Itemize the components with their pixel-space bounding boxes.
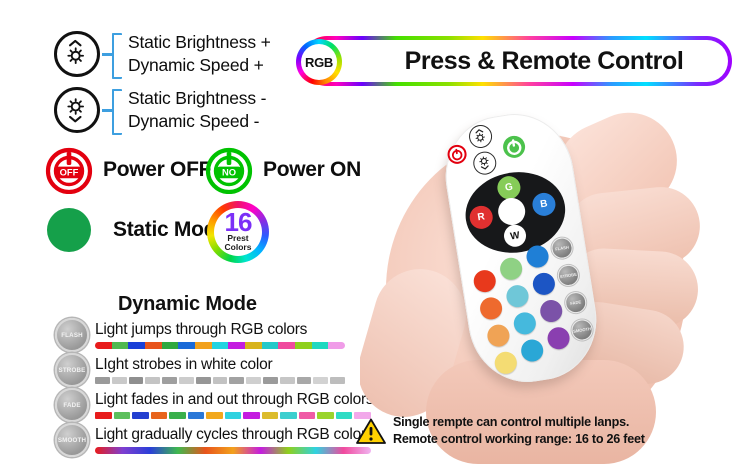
hand-holding-remote-photo: G R B W FLASH STROBE: [360, 92, 750, 464]
color-bar-segment: [162, 377, 177, 384]
power-on-glyph-text: NO: [222, 167, 236, 178]
brightness-down-line2: Dynamic Speed -: [128, 110, 266, 133]
power-on-label: Power ON: [263, 158, 361, 182]
smooth-desc-block: Light gradually cycles through RGB color…: [95, 426, 371, 454]
color-bar-segment: [196, 377, 211, 384]
dialpad-red-button[interactable]: R: [468, 204, 494, 230]
static-mode-row: Static Mode: [47, 208, 228, 252]
color-bar-segment: [336, 412, 353, 419]
color-button-red[interactable]: [472, 268, 497, 293]
power-off-glyph-text: OFF: [60, 167, 79, 178]
remote-strobe-button[interactable]: STROBE: [556, 263, 580, 287]
power-on-icon[interactable]: NO: [205, 146, 253, 194]
warning-text-block: Single rempte can control multiple lanps…: [393, 414, 645, 448]
dynamic-row-strobe: STROBE LIght strobes in white color: [55, 353, 345, 387]
remote-power-on-glyph: [502, 134, 527, 159]
preset-colors-line2: Colors: [225, 243, 252, 253]
color-button-violet[interactable]: [539, 298, 564, 323]
dynamic-row-fade: FADE Light fades in and out through RGB …: [55, 388, 371, 422]
color-bar-segment: [328, 342, 345, 349]
strobe-mode-button[interactable]: STROBE: [55, 353, 89, 387]
static-mode-swatch[interactable]: [47, 208, 91, 252]
brightness-down-line1: Static Brightness -: [128, 87, 266, 110]
dialpad-green-button[interactable]: G: [496, 174, 522, 200]
dialpad-center-button[interactable]: [496, 196, 527, 227]
flash-color-bar: [95, 342, 345, 349]
bracket-connector-up: [102, 32, 128, 76]
color-bar-segment: [317, 412, 334, 419]
rgb-color-wheel-icon: RGB: [296, 39, 342, 85]
color-bar-segment: [95, 342, 112, 349]
color-bar-segment: [129, 377, 144, 384]
color-bar-segment: [151, 412, 168, 419]
color-bar-segment: [162, 342, 179, 349]
page-title: Press & Remote Control: [370, 36, 718, 86]
fade-mode-button-label: FADE: [63, 402, 80, 409]
dynamic-row-smooth: SMOOTH Light gradually cycles through RG…: [55, 423, 371, 457]
dialpad-blue-button[interactable]: B: [531, 191, 557, 217]
smooth-mode-button[interactable]: SMOOTH: [55, 423, 89, 457]
color-bar-segment: [212, 342, 229, 349]
color-bar-segment: [128, 342, 145, 349]
color-bar-segment: [262, 412, 279, 419]
header-banner: Press & Remote Control RGB: [302, 36, 732, 86]
color-bar-segment: [243, 412, 260, 419]
color-bar-segment: [263, 377, 278, 384]
strobe-color-bar: [95, 377, 345, 384]
flash-description: Light jumps through RGB colors: [95, 321, 345, 339]
color-bar-segment: [299, 412, 316, 419]
remote-smooth-button[interactable]: SMOOTH: [570, 318, 594, 342]
color-button-green[interactable]: [499, 256, 524, 281]
color-bar-segment: [297, 377, 312, 384]
brightness-down-glyph: [57, 90, 97, 130]
flash-mode-button[interactable]: FLASH: [55, 318, 89, 352]
color-bar-segment: [169, 412, 186, 419]
fade-color-bar: [95, 412, 371, 419]
brightness-up-icon[interactable]: [54, 31, 100, 77]
remote-strobe-label: STROBE: [560, 272, 578, 280]
preset-colors-inner: 16 Prest Colors: [214, 208, 262, 256]
flash-mode-button-label: FLASH: [61, 332, 83, 339]
color-button-sky[interactable]: [520, 338, 545, 363]
remote-power-off-button[interactable]: [446, 143, 468, 165]
remote-flash-label: FLASH: [555, 245, 569, 252]
color-bar-segment: [95, 412, 112, 419]
dialpad-white-button[interactable]: W: [502, 223, 527, 248]
warning-line1: Single rempte can control multiple lanps…: [393, 414, 645, 431]
preset-colors-ring: 16 Prest Colors: [207, 201, 269, 263]
dynamic-row-flash: FLASH Light jumps through RGB colors: [55, 318, 345, 352]
smooth-mode-button-label: SMOOTH: [58, 437, 86, 444]
color-button-amber[interactable]: [486, 323, 511, 348]
strobe-description: LIght strobes in white color: [95, 356, 345, 374]
brightness-up-row: Static Brightness + Dynamic Speed +: [54, 31, 271, 77]
color-bar-segment: [145, 377, 160, 384]
rgb-badge-label: RGB: [301, 44, 337, 80]
remote-brightness-up-button[interactable]: [467, 123, 493, 149]
remote-power-off-glyph: [448, 146, 465, 163]
brightness-down-text: Static Brightness - Dynamic Speed -: [128, 87, 266, 133]
color-button-teal[interactable]: [505, 284, 530, 309]
preset-colors-number: 16: [225, 211, 252, 234]
smooth-description: Light gradually cycles through RGB color…: [95, 426, 371, 444]
color-bar-segment: [280, 412, 297, 419]
remote-brightness-down-glyph: [473, 151, 496, 174]
color-bar-segment: [229, 377, 244, 384]
remote-smooth-label: SMOOTH: [573, 326, 592, 334]
color-button-blue[interactable]: [525, 244, 550, 269]
infographic-root: Press & Remote Control RGB: [0, 0, 750, 464]
smooth-color-bar: [95, 447, 371, 454]
color-bar-segment: [206, 412, 223, 419]
color-bar-segment: [313, 377, 328, 384]
remote-brightness-down-button[interactable]: [472, 150, 498, 176]
dynamic-mode-title: Dynamic Mode: [118, 293, 257, 316]
color-bar-segment: [295, 342, 312, 349]
fade-description: Light fades in and out through RGB color…: [95, 391, 371, 409]
brightness-down-row: Static Brightness - Dynamic Speed -: [54, 87, 266, 133]
color-bar-segment: [312, 342, 329, 349]
color-button-yellow[interactable]: [493, 350, 518, 375]
color-button-navy[interactable]: [531, 271, 556, 296]
strobe-mode-button-label: STROBE: [59, 367, 86, 374]
power-off-row: OFF Power OFF: [45, 146, 211, 194]
color-bar-segment: [280, 377, 295, 384]
color-bar-segment: [132, 412, 149, 419]
color-bar-segment: [195, 342, 212, 349]
bracket-connector-down: [102, 88, 128, 132]
warning-line2: Remote control working range: 16 to 26 f…: [393, 431, 645, 448]
power-off-label: Power OFF: [103, 158, 211, 182]
preset-colors-badge: 16 Prest Colors: [207, 201, 269, 263]
color-bar-segment: [178, 342, 195, 349]
color-bar-segment: [278, 342, 295, 349]
color-bar-segment: [262, 342, 279, 349]
power-on-row: NO Power ON: [205, 146, 361, 194]
fade-desc-block: Light fades in and out through RGB color…: [95, 391, 371, 419]
power-off-icon[interactable]: OFF: [45, 146, 93, 194]
remote-fade-label: FADE: [570, 299, 582, 306]
fade-mode-button[interactable]: FADE: [55, 388, 89, 422]
color-bar-segment: [179, 377, 194, 384]
brightness-down-icon[interactable]: [54, 87, 100, 133]
color-bar-segment: [95, 377, 110, 384]
brightness-up-line2: Dynamic Speed +: [128, 54, 271, 77]
brightness-up-text: Static Brightness + Dynamic Speed +: [128, 31, 271, 77]
remote-power-on-button[interactable]: [502, 134, 527, 159]
color-bar-segment: [114, 412, 131, 419]
color-bar-segment: [112, 342, 129, 349]
color-bar-segment: [228, 342, 245, 349]
color-bar-segment: [213, 377, 228, 384]
strobe-desc-block: LIght strobes in white color: [95, 356, 345, 384]
color-button-cyan[interactable]: [512, 311, 537, 336]
warning-note: Single rempte can control multiple lanps…: [356, 414, 645, 448]
flash-desc-block: Light jumps through RGB colors: [95, 321, 345, 349]
color-bar-segment: [145, 342, 162, 349]
color-bar-segment: [246, 377, 261, 384]
color-bar-segment: [188, 412, 205, 419]
color-button-orange[interactable]: [478, 296, 503, 321]
remote-brightness-up-glyph: [469, 125, 492, 148]
color-bar-segment: [330, 377, 345, 384]
color-bar-segment: [112, 377, 127, 384]
color-bar-segment: [225, 412, 242, 419]
remote-fade-button[interactable]: FADE: [564, 291, 588, 315]
brightness-up-line1: Static Brightness +: [128, 31, 271, 54]
color-bar-segment: [245, 342, 262, 349]
warning-triangle-icon: [356, 418, 386, 445]
color-button-purple[interactable]: [546, 326, 571, 351]
brightness-up-glyph: [57, 34, 97, 74]
remote-flash-button[interactable]: FLASH: [550, 236, 574, 260]
